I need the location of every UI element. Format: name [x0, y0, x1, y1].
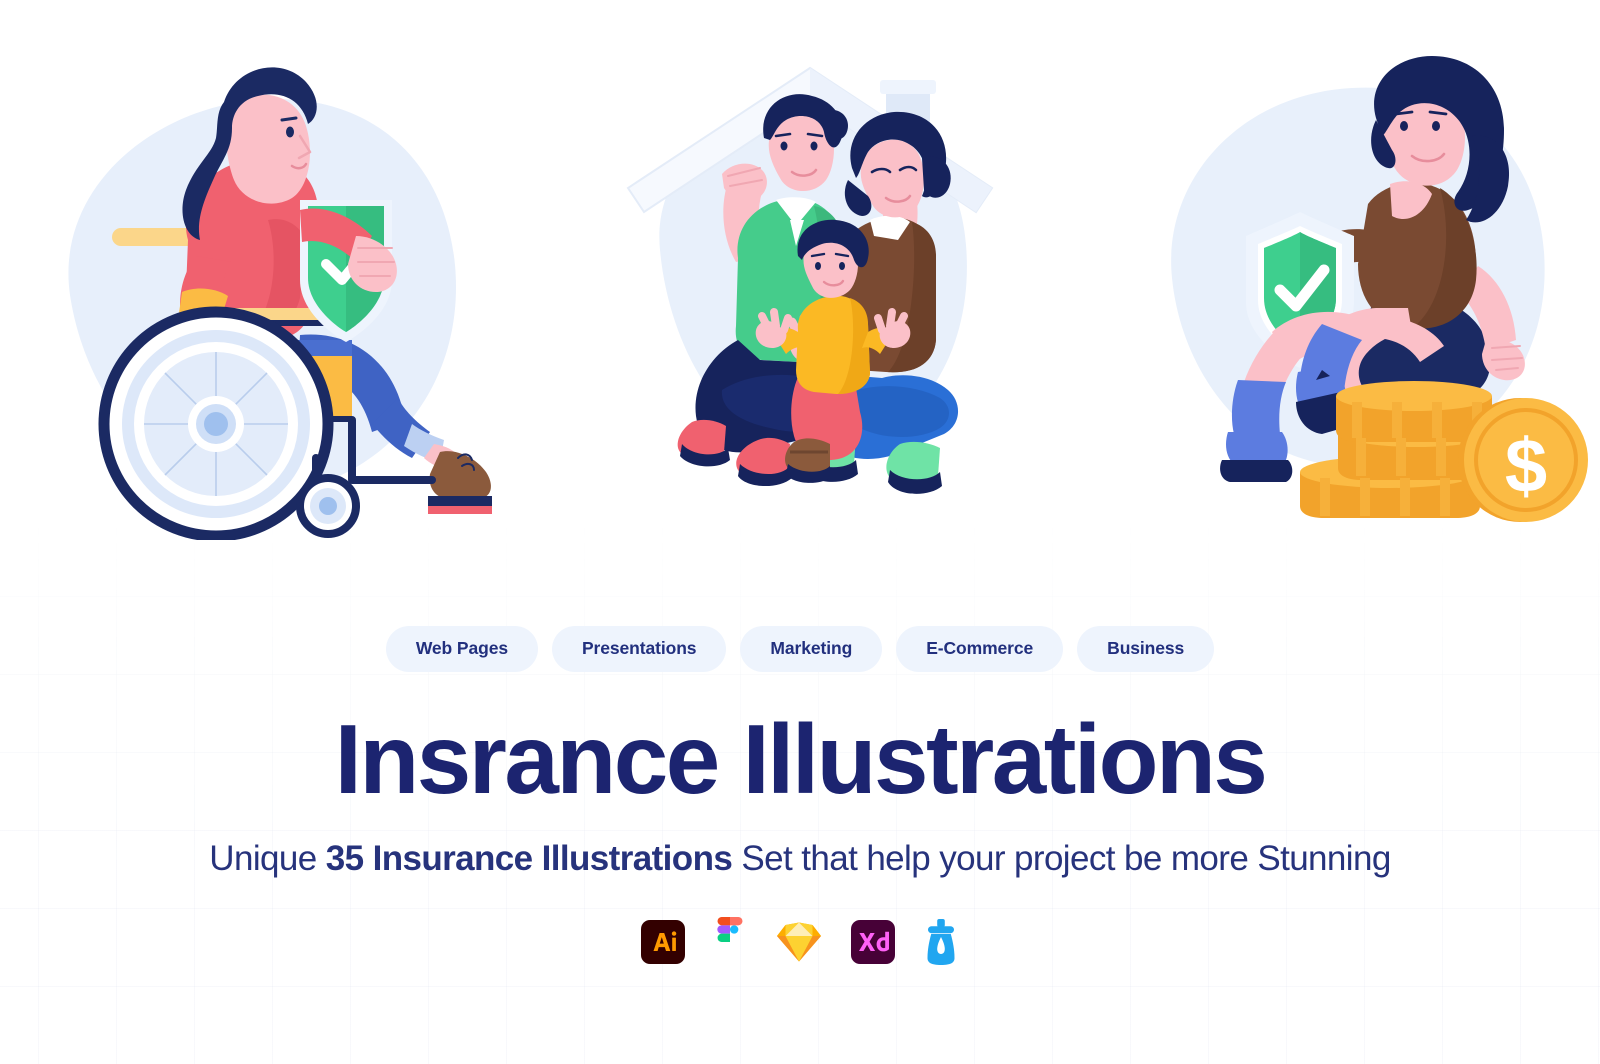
adobe-illustrator-icon[interactable] [641, 920, 685, 964]
subtitle-tail: Set that help your project be more Stunn… [732, 839, 1390, 878]
illustration-family-home-insurance [600, 40, 1020, 520]
tag-web-pages[interactable]: Web Pages [386, 626, 538, 672]
blush-icon[interactable] [923, 918, 959, 966]
boot-back [1232, 380, 1286, 434]
page-title: Insrance Illustrations [0, 706, 1600, 814]
boot [430, 451, 491, 498]
tag-presentations[interactable]: Presentations [552, 626, 726, 672]
head [226, 95, 310, 204]
page-root: $ Web Pages Presentations Marketing E-Co… [0, 0, 1600, 1064]
illustration-savings-insurance: $ [1100, 40, 1600, 530]
figma-icon[interactable] [713, 917, 747, 967]
tag-ecommerce[interactable]: E-Commerce [896, 626, 1063, 672]
subtitle-highlight: 35 Insurance Illustrations [326, 839, 733, 878]
sketch-icon[interactable] [775, 920, 823, 964]
adobe-xd-icon[interactable] [851, 920, 895, 964]
tag-marketing[interactable]: Marketing [740, 626, 882, 672]
tag-list: Web Pages Presentations Marketing E-Comm… [0, 626, 1600, 672]
wheelchair-wheel [104, 312, 328, 536]
subtitle-lead: Unique [209, 839, 325, 878]
svg-text:$: $ [1505, 424, 1547, 509]
tag-business[interactable]: Business [1077, 626, 1214, 672]
dollar-coin: $ [1458, 398, 1588, 522]
app-format-icons [0, 917, 1600, 967]
illustration-wheelchair-insurance [0, 40, 520, 540]
illustrations-row: $ [0, 40, 1600, 560]
page-subtitle: Unique 35 Insurance Illustrations Set th… [0, 838, 1600, 880]
